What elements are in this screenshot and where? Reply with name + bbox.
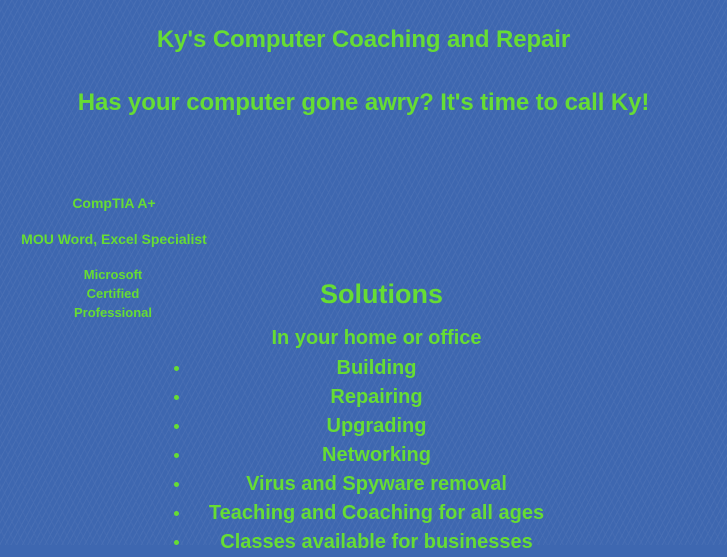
list-item-label: Building <box>337 357 417 379</box>
list-item-label: Upgrading <box>327 415 427 437</box>
list-item-label: Teaching and Coaching for all ages <box>209 502 544 524</box>
list-item: Virus and Spyware removal <box>163 470 590 499</box>
list-item: Building <box>163 354 590 383</box>
list-item: Networking <box>163 441 590 470</box>
bullet-icon <box>174 453 179 458</box>
bullet-icon <box>174 482 179 487</box>
list-item: Classes available for businesses <box>163 528 590 557</box>
list-item: Teaching and Coaching for all ages <box>163 499 590 528</box>
solutions-panel: Solutions In your home or office Buildin… <box>155 278 590 557</box>
solutions-heading: Solutions <box>173 278 590 311</box>
page-tagline: Has your computer gone awry? It's time t… <box>0 88 727 117</box>
bullet-icon <box>174 395 179 400</box>
service-list: Building Repairing Upgrading Networking … <box>155 354 590 557</box>
credential-comptia: CompTIA A+ <box>0 194 228 212</box>
list-item: Repairing <box>163 383 590 412</box>
list-item: Upgrading <box>163 412 590 441</box>
list-item-label: Repairing <box>330 386 422 408</box>
list-item-label: Networking <box>322 444 431 466</box>
credential-mou: MOU Word, Excel Specialist <box>0 230 228 248</box>
list-item-label: Virus and Spyware removal <box>246 473 507 495</box>
page-root: Ky's Computer Coaching and Repair Has yo… <box>0 0 727 545</box>
bullet-icon <box>174 511 179 516</box>
bullet-icon <box>174 366 179 371</box>
list-item-label: Classes available for businesses <box>220 531 532 553</box>
bullet-icon <box>174 424 179 429</box>
solutions-subheading: In your home or office <box>163 325 590 351</box>
page-title: Ky's Computer Coaching and Repair <box>0 25 727 54</box>
bullet-icon <box>174 540 179 545</box>
